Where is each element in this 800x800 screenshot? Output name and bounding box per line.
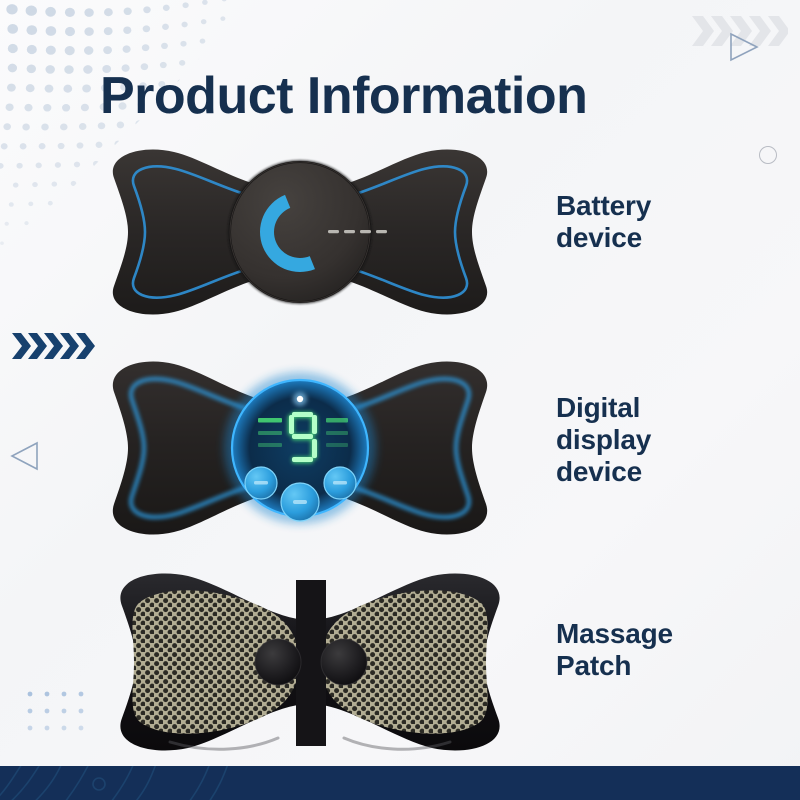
circle-outline-decoration [759,146,777,164]
label-battery-device: Battery device [556,190,651,254]
label-line: device [556,456,651,488]
indicator-led [297,396,303,402]
label-line: device [556,222,651,254]
product-image-massage-patch [100,562,520,767]
label-massage-patch: Massage Patch [556,618,673,682]
product-information-infographic: Product Information [0,0,800,800]
label-line: Battery [556,190,651,222]
label-digital-display-device: Digital display device [556,392,651,488]
chevron-group-left-icon [12,332,98,360]
bottom-accent-band [0,766,800,800]
band-circle-decoration [93,778,105,790]
page-title: Product Information [100,69,740,124]
label-line: display [556,424,651,456]
triangle-left-outline-icon [8,440,42,472]
product-image-digital-display-device [100,352,500,547]
label-line: Patch [556,650,673,682]
label-line: Digital [556,392,651,424]
band-wave-texture [0,766,800,800]
triangle-right-outline-icon [726,30,762,64]
chevron-group-right-icon [692,14,788,48]
product-image-battery-device [100,142,500,327]
label-line: Massage [556,618,673,650]
dot-grid-decoration [26,690,106,740]
